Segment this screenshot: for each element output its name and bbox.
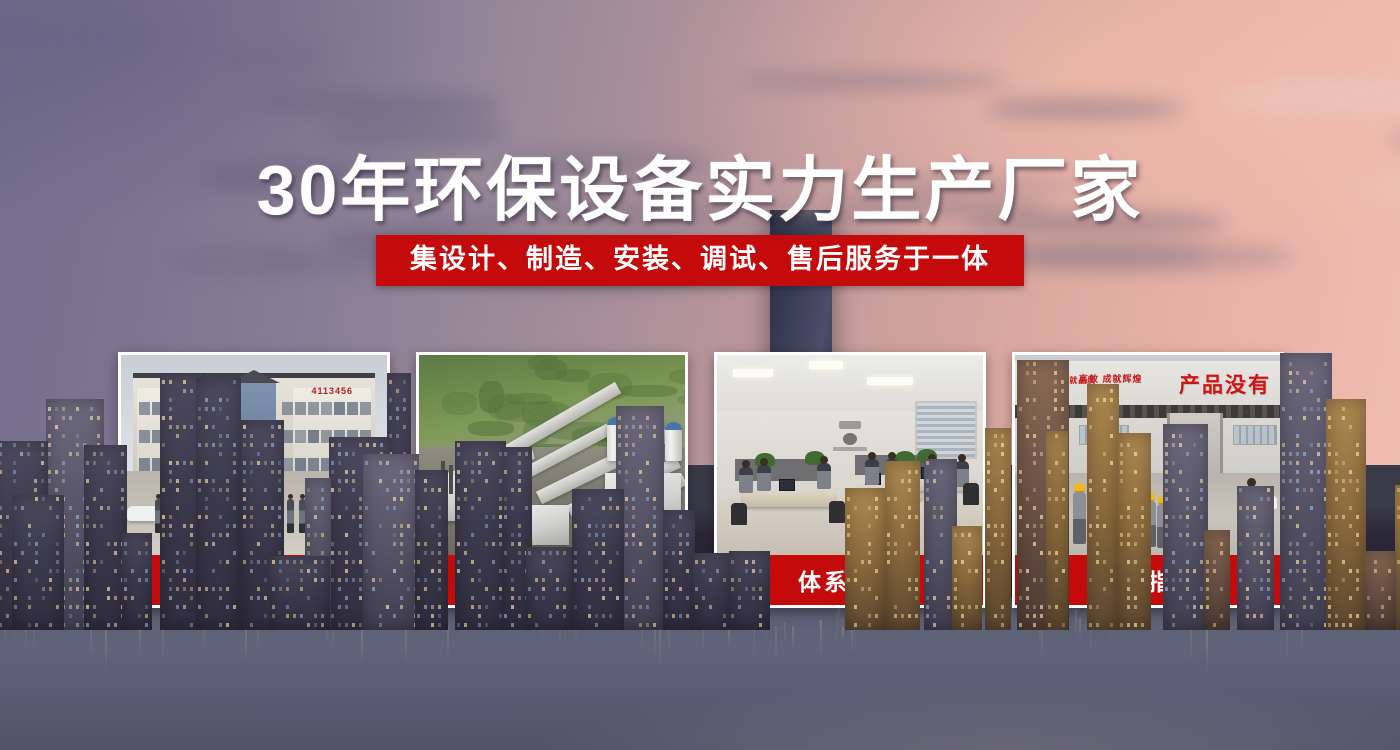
promotional-banner: 30年环保设备实力生产厂家 集设计、制造、安装、调试、售后服务于一体 中基机械 … [0, 0, 1400, 750]
employee-figure [817, 463, 831, 489]
skyline-building [270, 556, 330, 630]
skyline-building [572, 489, 624, 630]
skyline-building [363, 454, 419, 630]
office-chair [829, 501, 845, 523]
computer-monitor [779, 479, 795, 491]
skyline-building [455, 441, 506, 630]
skyline-building [1365, 551, 1396, 630]
office-chair [731, 503, 747, 525]
office-desk [743, 493, 835, 507]
skyline-building [1237, 486, 1274, 630]
skyline-building [526, 547, 572, 630]
worker-figure [1073, 492, 1086, 544]
staff-figure [287, 499, 294, 533]
employee-figure [757, 465, 771, 491]
skyline-building [415, 470, 448, 630]
skyline-building [196, 378, 241, 630]
employee-figure [865, 459, 879, 485]
skyline-building [1046, 431, 1068, 630]
subtitle-text: 集设计、制造、安装、调试、售后服务于一体 [410, 245, 990, 274]
skyline-building [1163, 424, 1208, 630]
employee-figure [739, 467, 753, 493]
subtitle-bar: 集设计、制造、安装、调试、售后服务于一体 [376, 235, 1024, 286]
skyline-building [985, 428, 1011, 630]
skyline-building [84, 445, 127, 630]
skyline-building [1087, 384, 1119, 630]
skyline-building [12, 495, 64, 630]
skyline-building [1118, 433, 1151, 630]
skyline-building [952, 526, 982, 630]
skyline-building [729, 551, 770, 630]
storage-silo [665, 422, 682, 461]
skyline-building [122, 533, 152, 630]
skyline-building [1280, 353, 1332, 630]
skyline-building [885, 461, 920, 630]
skyline-building [663, 510, 695, 630]
page-title: 30年环保设备实力生产厂家 [0, 134, 1400, 235]
skyline-building [1204, 530, 1230, 630]
office-chair [963, 483, 979, 505]
skyline-building [1326, 399, 1366, 630]
skyline-building [693, 553, 730, 630]
skyline-building [845, 488, 885, 630]
